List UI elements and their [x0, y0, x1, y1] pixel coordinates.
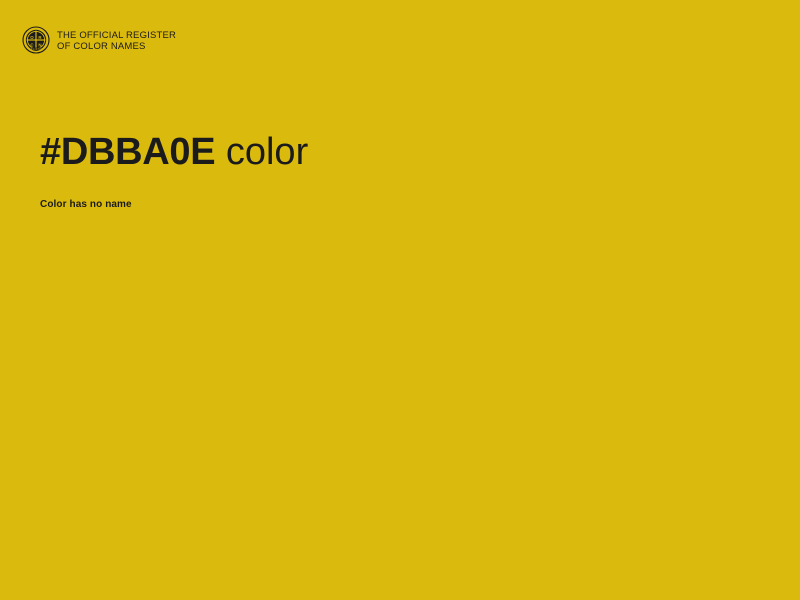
svg-text:REGISTER: REGISTER: [29, 49, 44, 51]
page-title: #DBBA0E color: [40, 129, 308, 175]
svg-text:N: N: [38, 42, 41, 47]
color-name-status: Color has no name: [40, 199, 132, 210]
brand-wordmark: THE OFFICIAL REGISTER OF COLOR NAMES: [57, 29, 176, 52]
brand-line-1: THE OFFICIAL REGISTER: [57, 30, 176, 41]
brand-line-2: OF COLOR NAMES: [57, 41, 176, 52]
register-seal-icon: O R C N REGISTER: [22, 26, 50, 54]
svg-text:O: O: [30, 35, 34, 40]
brand-lockup[interactable]: O R C N REGISTER THE OFFICIAL REGISTER O…: [22, 26, 176, 54]
page-title-hex: #DBBA0E: [40, 131, 215, 173]
page-title-suffix: color: [215, 131, 308, 173]
color-page: O R C N REGISTER THE OFFICIAL REGISTER O…: [0, 0, 800, 600]
